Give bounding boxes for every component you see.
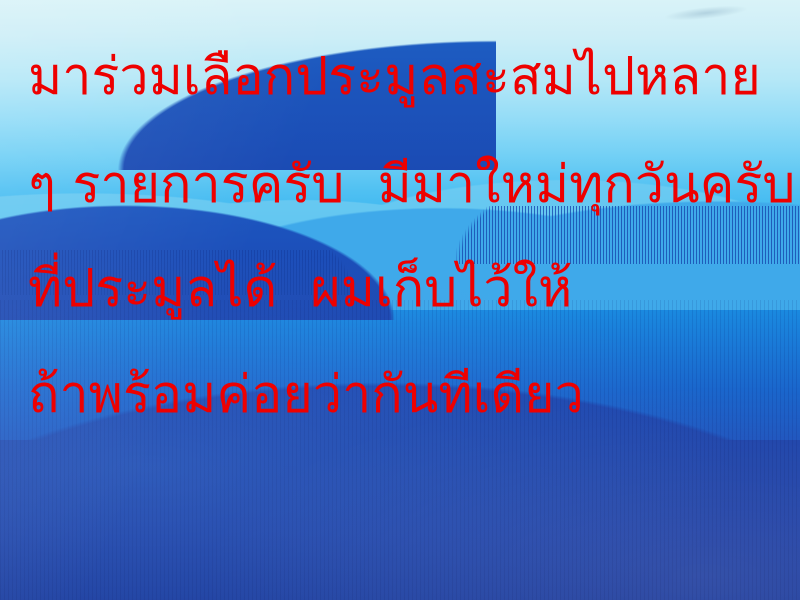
caption-line-4: ถ้าพร้อมค่อยว่ากันทีเดียว <box>0 368 800 423</box>
caption-overlay: มาร่วมเลือกประมูลสะสมไปหลาย ๆ รายการครับ… <box>0 0 800 600</box>
caption-line-1: มาร่วมเลือกประมูลสะสมไปหลาย <box>0 50 800 105</box>
advertisement-banner: มาร่วมเลือกประมูลสะสมไปหลาย ๆ รายการครับ… <box>0 0 800 600</box>
caption-line-2: ๆ รายการครับ มีมาใหม่ทุกวันครับ <box>0 158 800 213</box>
caption-line-3: ที่ประมูลได้ ผมเก็บไว้ให้ <box>0 262 800 317</box>
